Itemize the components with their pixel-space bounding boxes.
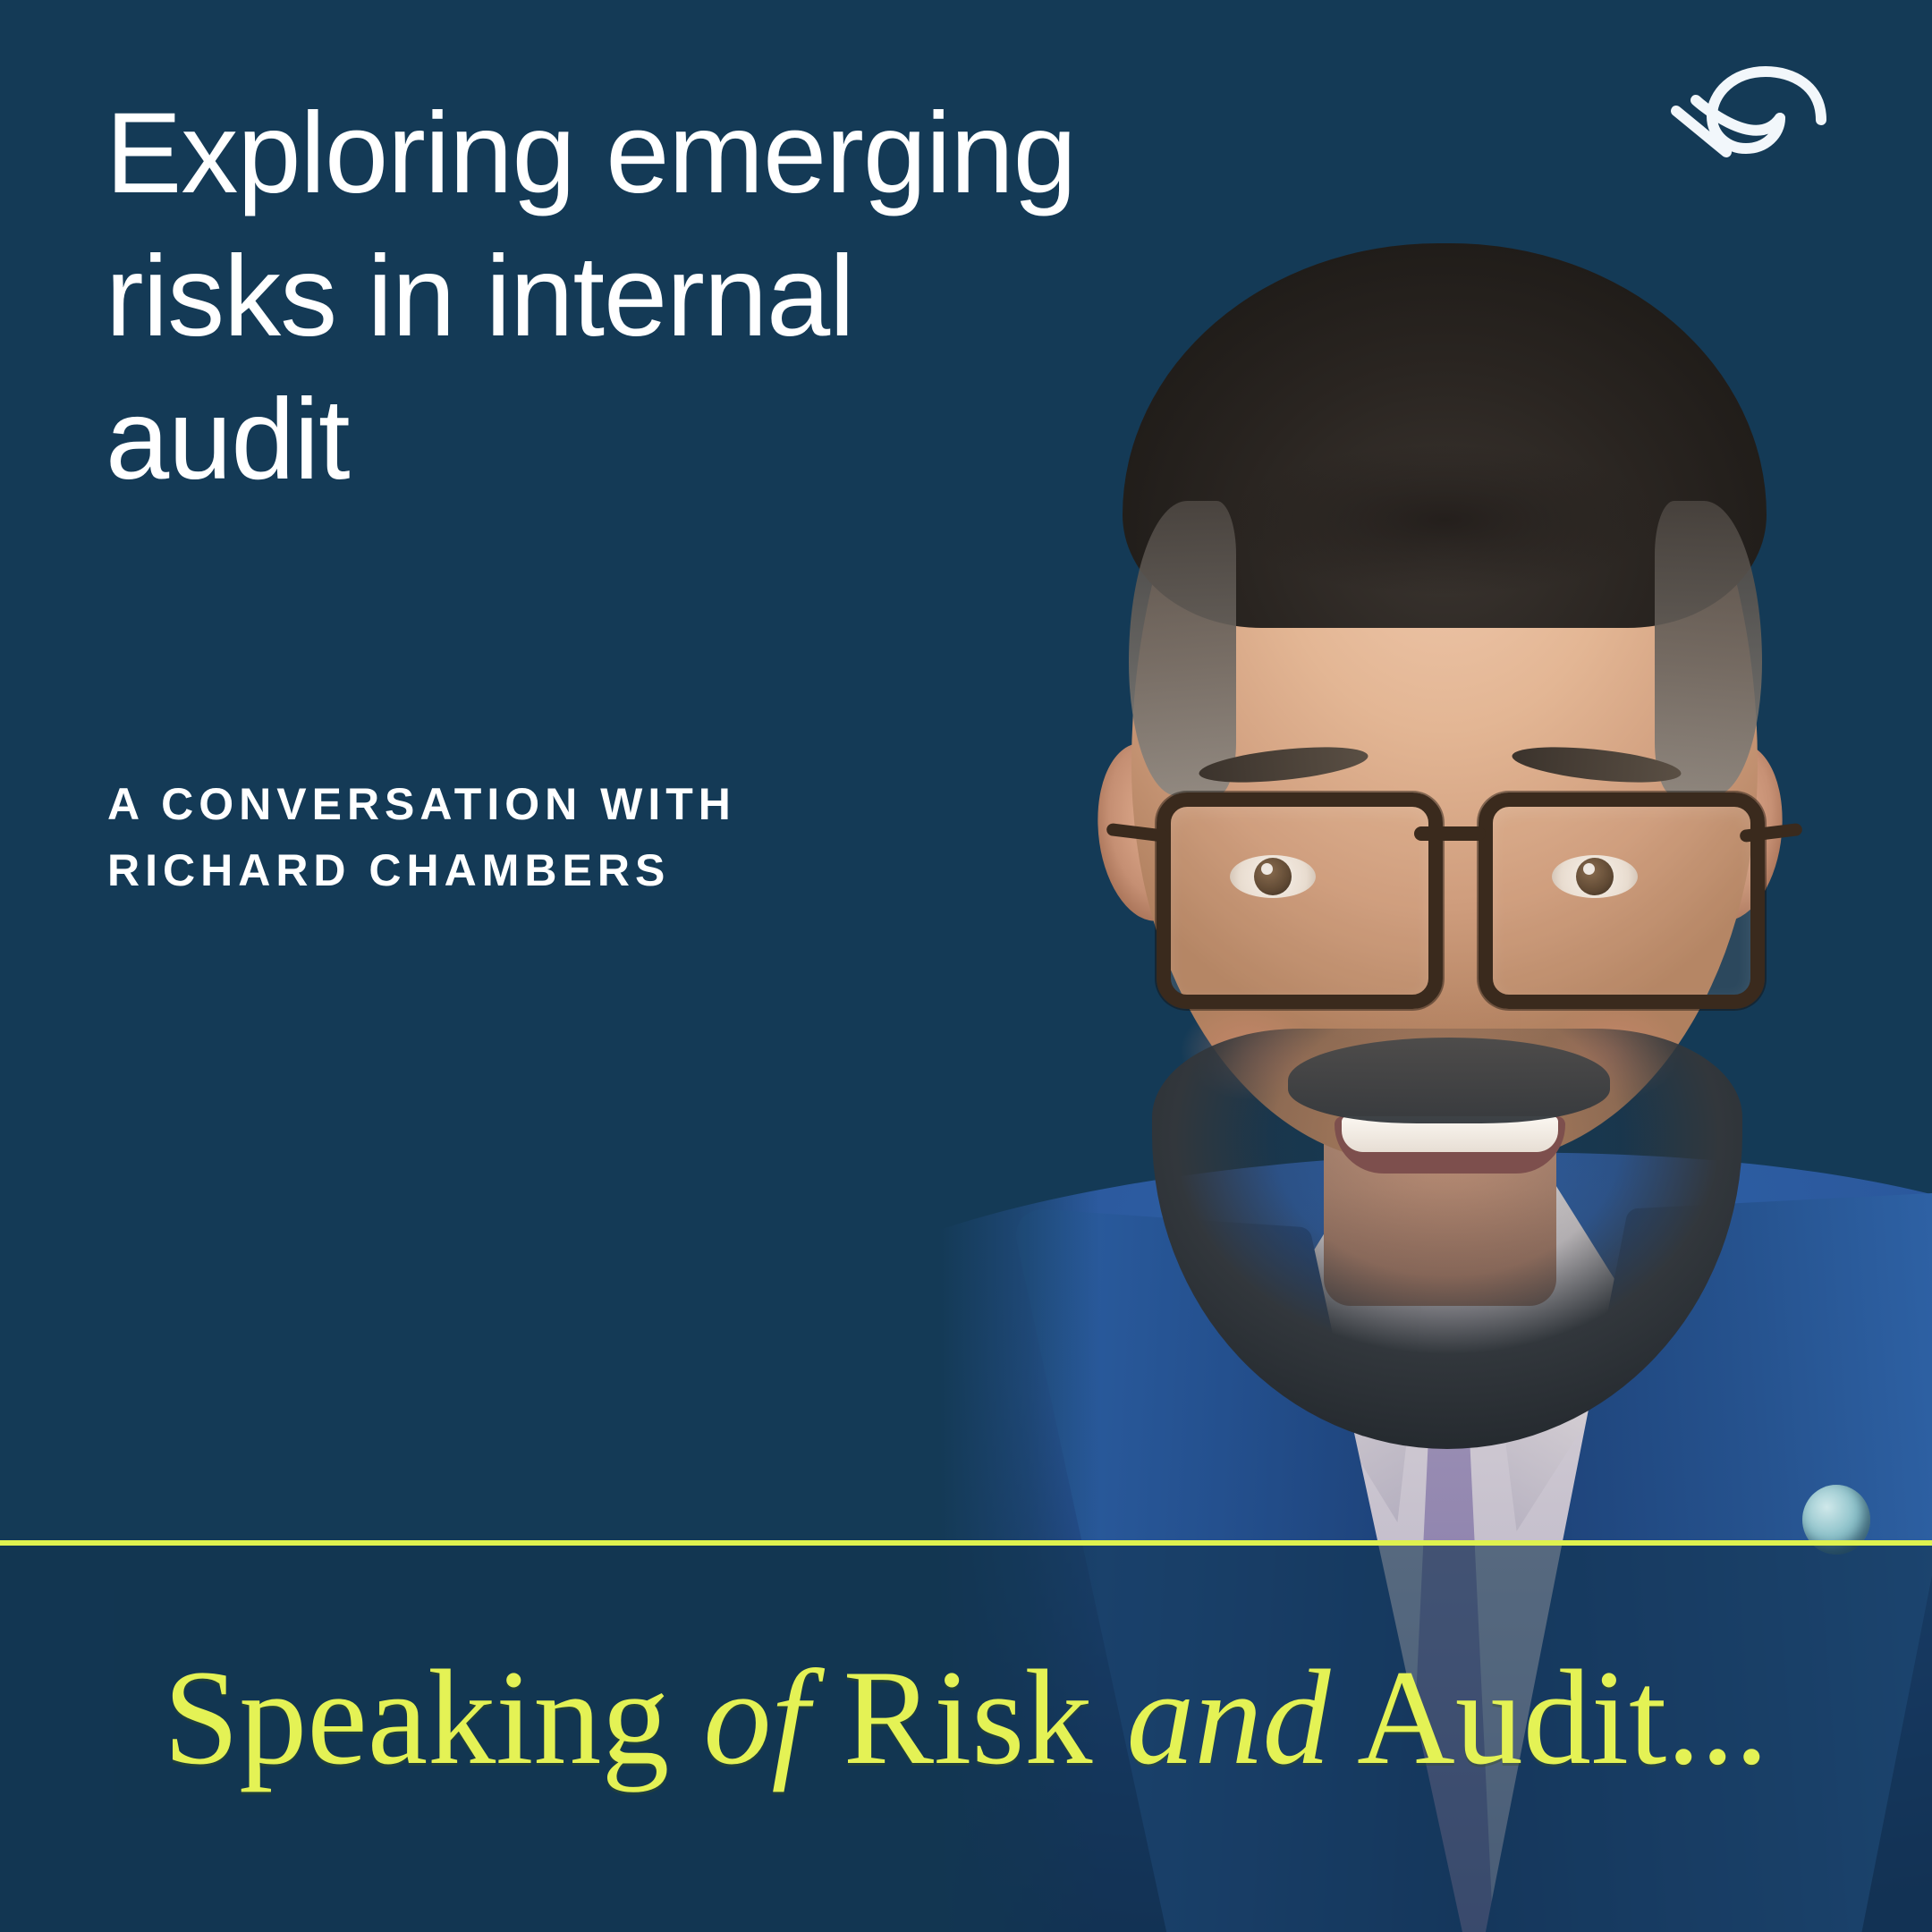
mouth — [1335, 1116, 1565, 1174]
show-title: Speaking of Risk and Audit... — [0, 1644, 1932, 1791]
podcast-cover-art: Exploring emerging risks in internal aud… — [0, 0, 1932, 1932]
episode-subtitle-line-1: A CONVERSATION WITH — [107, 771, 984, 837]
show-title-part-speaking: Speaking — [164, 1642, 704, 1792]
show-title-part-audit: Audit... — [1330, 1642, 1768, 1792]
mustache — [1288, 1038, 1610, 1123]
glasses-bridge — [1414, 826, 1486, 841]
show-title-part-risk: Risk — [809, 1642, 1127, 1792]
accent-divider — [0, 1540, 1932, 1546]
episode-title-line-3: audit — [106, 369, 1000, 512]
brand-logo[interactable] — [1669, 66, 1828, 159]
lens-right — [1479, 792, 1765, 1009]
lens-left — [1157, 792, 1443, 1009]
eyeglasses — [1131, 780, 1775, 1004]
episode-title: Exploring emerging risks in internal aud… — [106, 82, 1000, 512]
show-title-part-of: of — [703, 1642, 809, 1792]
episode-subtitle-line-2: RICHARD CHAMBERS — [107, 837, 984, 903]
show-title-part-and: and — [1126, 1642, 1330, 1792]
episode-title-line-2: risks in internal — [106, 225, 1000, 369]
episode-subtitle: A CONVERSATION WITH RICHARD CHAMBERS — [107, 771, 984, 903]
episode-title-line-1: Exploring emerging — [106, 82, 1000, 225]
